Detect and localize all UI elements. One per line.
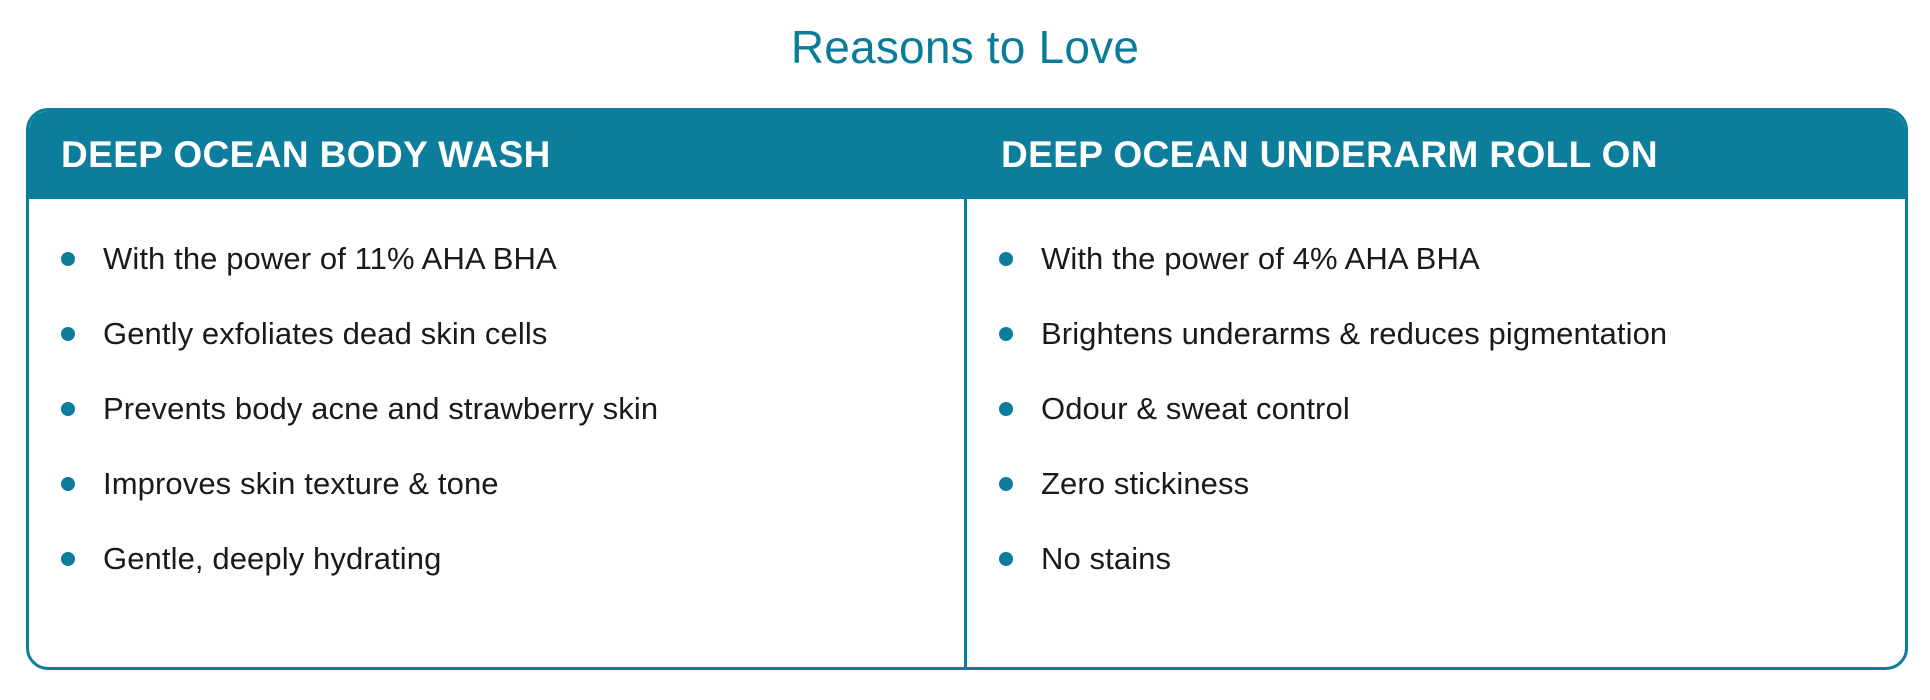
list-item-label: No stains [1041, 540, 1171, 578]
list-item-label: Gentle, deeply hydrating [103, 540, 441, 578]
column-heading-body-wash: DEEP OCEAN BODY WASH [29, 111, 967, 199]
list-item-label: With the power of 11% AHA BHA [103, 240, 557, 278]
column-body-wash: With the power of 11% AHA BHA Gently exf… [29, 199, 967, 667]
list-item-label: Improves skin texture & tone [103, 465, 499, 503]
list-item: Gently exfoliates dead skin cells [47, 296, 946, 371]
list-item-label: With the power of 4% AHA BHA [1041, 240, 1480, 278]
list-item-label: Odour & sweat control [1041, 390, 1350, 428]
column-roll-on: With the power of 4% AHA BHA Brightens u… [967, 199, 1905, 667]
comparison-header-row: DEEP OCEAN BODY WASH DEEP OCEAN UNDERARM… [29, 111, 1905, 199]
list-item: Odour & sweat control [985, 371, 1887, 446]
bullet-dot-icon [61, 552, 75, 566]
bullet-dot-icon [61, 252, 75, 266]
bullet-dot-icon [61, 327, 75, 341]
comparison-card: DEEP OCEAN BODY WASH DEEP OCEAN UNDERARM… [26, 108, 1908, 670]
list-item-label: Zero stickiness [1041, 465, 1249, 503]
bullet-list-body-wash: With the power of 11% AHA BHA Gently exf… [47, 221, 946, 596]
list-item: Improves skin texture & tone [47, 446, 946, 521]
bullet-dot-icon [61, 402, 75, 416]
list-item: No stains [985, 521, 1887, 596]
bullet-dot-icon [999, 402, 1013, 416]
list-item: Gentle, deeply hydrating [47, 521, 946, 596]
bullet-dot-icon [999, 327, 1013, 341]
list-item: With the power of 11% AHA BHA [47, 221, 946, 296]
column-heading-roll-on: DEEP OCEAN UNDERARM ROLL ON [967, 111, 1905, 199]
page-title: Reasons to Love [0, 16, 1930, 78]
reasons-to-love-page: Reasons to Love DEEP OCEAN BODY WASH DEE… [0, 0, 1930, 700]
list-item: Prevents body acne and strawberry skin [47, 371, 946, 446]
list-item-label: Gently exfoliates dead skin cells [103, 315, 547, 353]
list-item: Zero stickiness [985, 446, 1887, 521]
bullet-dot-icon [61, 477, 75, 491]
bullet-dot-icon [999, 477, 1013, 491]
list-item-label: Prevents body acne and strawberry skin [103, 390, 658, 428]
comparison-body-row: With the power of 11% AHA BHA Gently exf… [29, 199, 1905, 667]
list-item: Brightens underarms & reduces pigmentati… [985, 296, 1887, 371]
bullet-list-roll-on: With the power of 4% AHA BHA Brightens u… [985, 221, 1887, 596]
list-item: With the power of 4% AHA BHA [985, 221, 1887, 296]
list-item-label: Brightens underarms & reduces pigmentati… [1041, 315, 1667, 353]
bullet-dot-icon [999, 252, 1013, 266]
bullet-dot-icon [999, 552, 1013, 566]
